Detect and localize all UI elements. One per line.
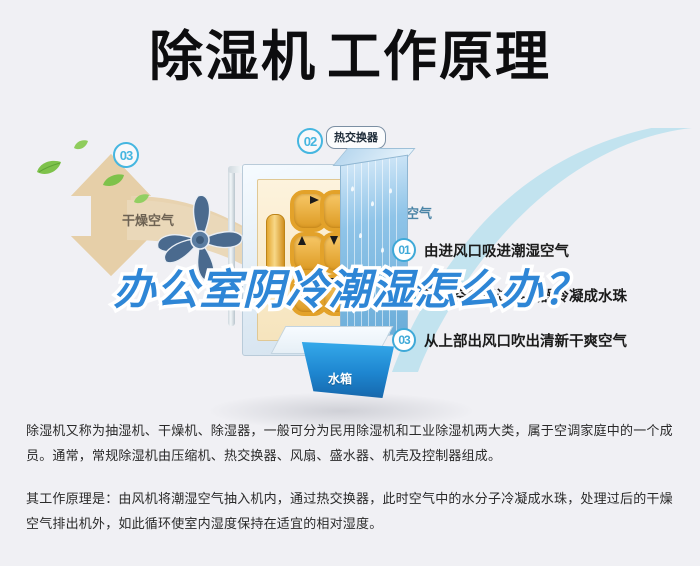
page-title-part1: 除湿机 <box>149 27 317 87</box>
overlay-headline-text: 办公室阴冷潮湿怎么办？ <box>0 262 700 318</box>
page-title: 除湿机工作原理 <box>0 24 700 92</box>
heat-exchanger-callout: 热交换器 <box>326 126 386 149</box>
tank-label: 水箱 <box>328 370 352 387</box>
infographic-page: 除湿机工作原理 03 <box>0 0 700 566</box>
legend-badge-01: 01 <box>392 238 416 262</box>
diagram-marker-03: 03 <box>113 142 139 168</box>
leaf-icon <box>36 160 62 176</box>
paragraph-1: 除湿机又称为抽湿机、干燥机、除湿器，一般可分为民用除湿机和工业除湿机两大类，属于… <box>26 418 678 468</box>
legend-text-03: 从上部出风口吹出清新干爽空气 <box>424 330 627 351</box>
body-copy: 除湿机又称为抽湿机、干燥机、除湿器，一般可分为民用除湿机和工业除湿机两大类，属于… <box>26 418 678 554</box>
leaf-icon <box>134 194 150 205</box>
flow-arrow-right <box>310 196 319 204</box>
legend-text-01: 由进风口吸进潮湿空气 <box>424 240 569 261</box>
water-tank: 水箱 <box>276 326 406 400</box>
flow-arrow-up <box>298 236 306 245</box>
paragraph-2: 其工作原理是：由风机将潮湿空气抽入机内，通过热交换器，此时空气中的水分子冷凝成水… <box>26 486 678 536</box>
leaf-icon <box>74 140 88 151</box>
flow-arrow-down <box>330 236 338 245</box>
leaf-icon <box>103 174 125 188</box>
legend-badge-03: 03 <box>392 328 416 352</box>
heat-exchanger-callout-label: 热交换器 <box>334 132 378 144</box>
diagram-marker-02: 02 <box>297 128 323 154</box>
page-title-part2: 工作原理 <box>327 27 551 87</box>
legend-item: 03 从上部出风口吹出清新干爽空气 <box>392 328 692 352</box>
legend-item: 01 由进风口吸进潮湿空气 <box>392 238 692 262</box>
overlay-headline: 办公室阴冷潮湿怎么办？ 办公室阴冷潮湿怎么办？ <box>0 262 700 318</box>
